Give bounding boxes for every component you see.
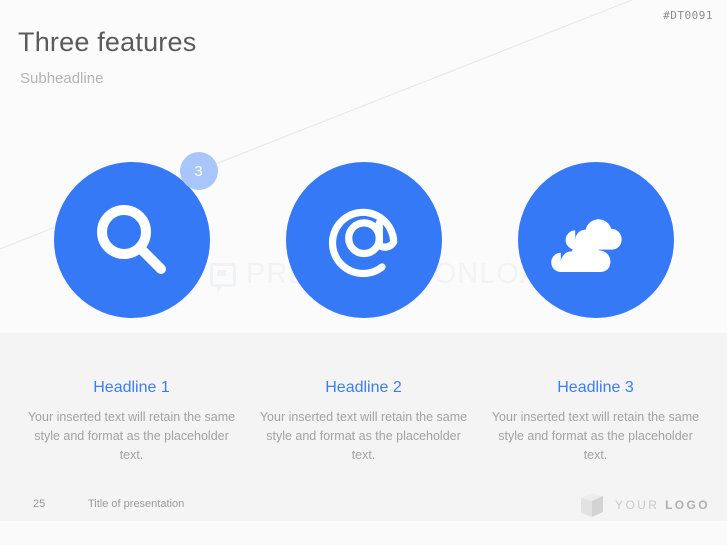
icon-circle-wrapper-1: 3 <box>54 162 210 318</box>
feature-headline-2: Headline 2 <box>247 379 480 397</box>
feature-headline-3: Headline 3 <box>479 379 712 397</box>
feature-columns: 3 Headline 1 Your inserted text will ret… <box>0 0 727 545</box>
logo-text: YOUR LOGO <box>615 498 710 512</box>
footer-presentation-title: Title of presentation <box>88 498 184 510</box>
magnifier-icon <box>90 198 174 282</box>
icon-circle-wrapper-2 <box>286 162 442 318</box>
at-sign-icon <box>319 195 409 285</box>
feature-column-1: 3 Headline 1 Your inserted text will ret… <box>15 162 248 465</box>
presentation-slide: PRESENTATIONLOAD #DT0091 Three features … <box>0 0 727 545</box>
cloud-icon <box>548 200 644 280</box>
icon-circle-wrapper-3 <box>518 162 674 318</box>
feature-icon-circle-3[interactable] <box>518 162 674 318</box>
feature-body-3: Your inserted text will retain the same … <box>479 408 712 465</box>
feature-headline-1: Headline 1 <box>15 379 248 397</box>
feature-body-2: Your inserted text will retain the same … <box>247 408 480 465</box>
feature-body-1: Your inserted text will retain the same … <box>15 408 248 465</box>
cube-icon <box>580 492 604 518</box>
logo-placeholder: YOUR LOGO <box>580 492 710 518</box>
logo-word-1: YOUR <box>615 498 659 512</box>
feature-icon-circle-2[interactable] <box>286 162 442 318</box>
page-number: 25 <box>33 498 45 510</box>
feature-badge-1: 3 <box>180 152 218 190</box>
logo-word-2: LOGO <box>665 498 710 512</box>
feature-column-2: Headline 2 Your inserted text will retai… <box>247 162 480 465</box>
feature-column-3: Headline 3 Your inserted text will retai… <box>479 162 712 465</box>
